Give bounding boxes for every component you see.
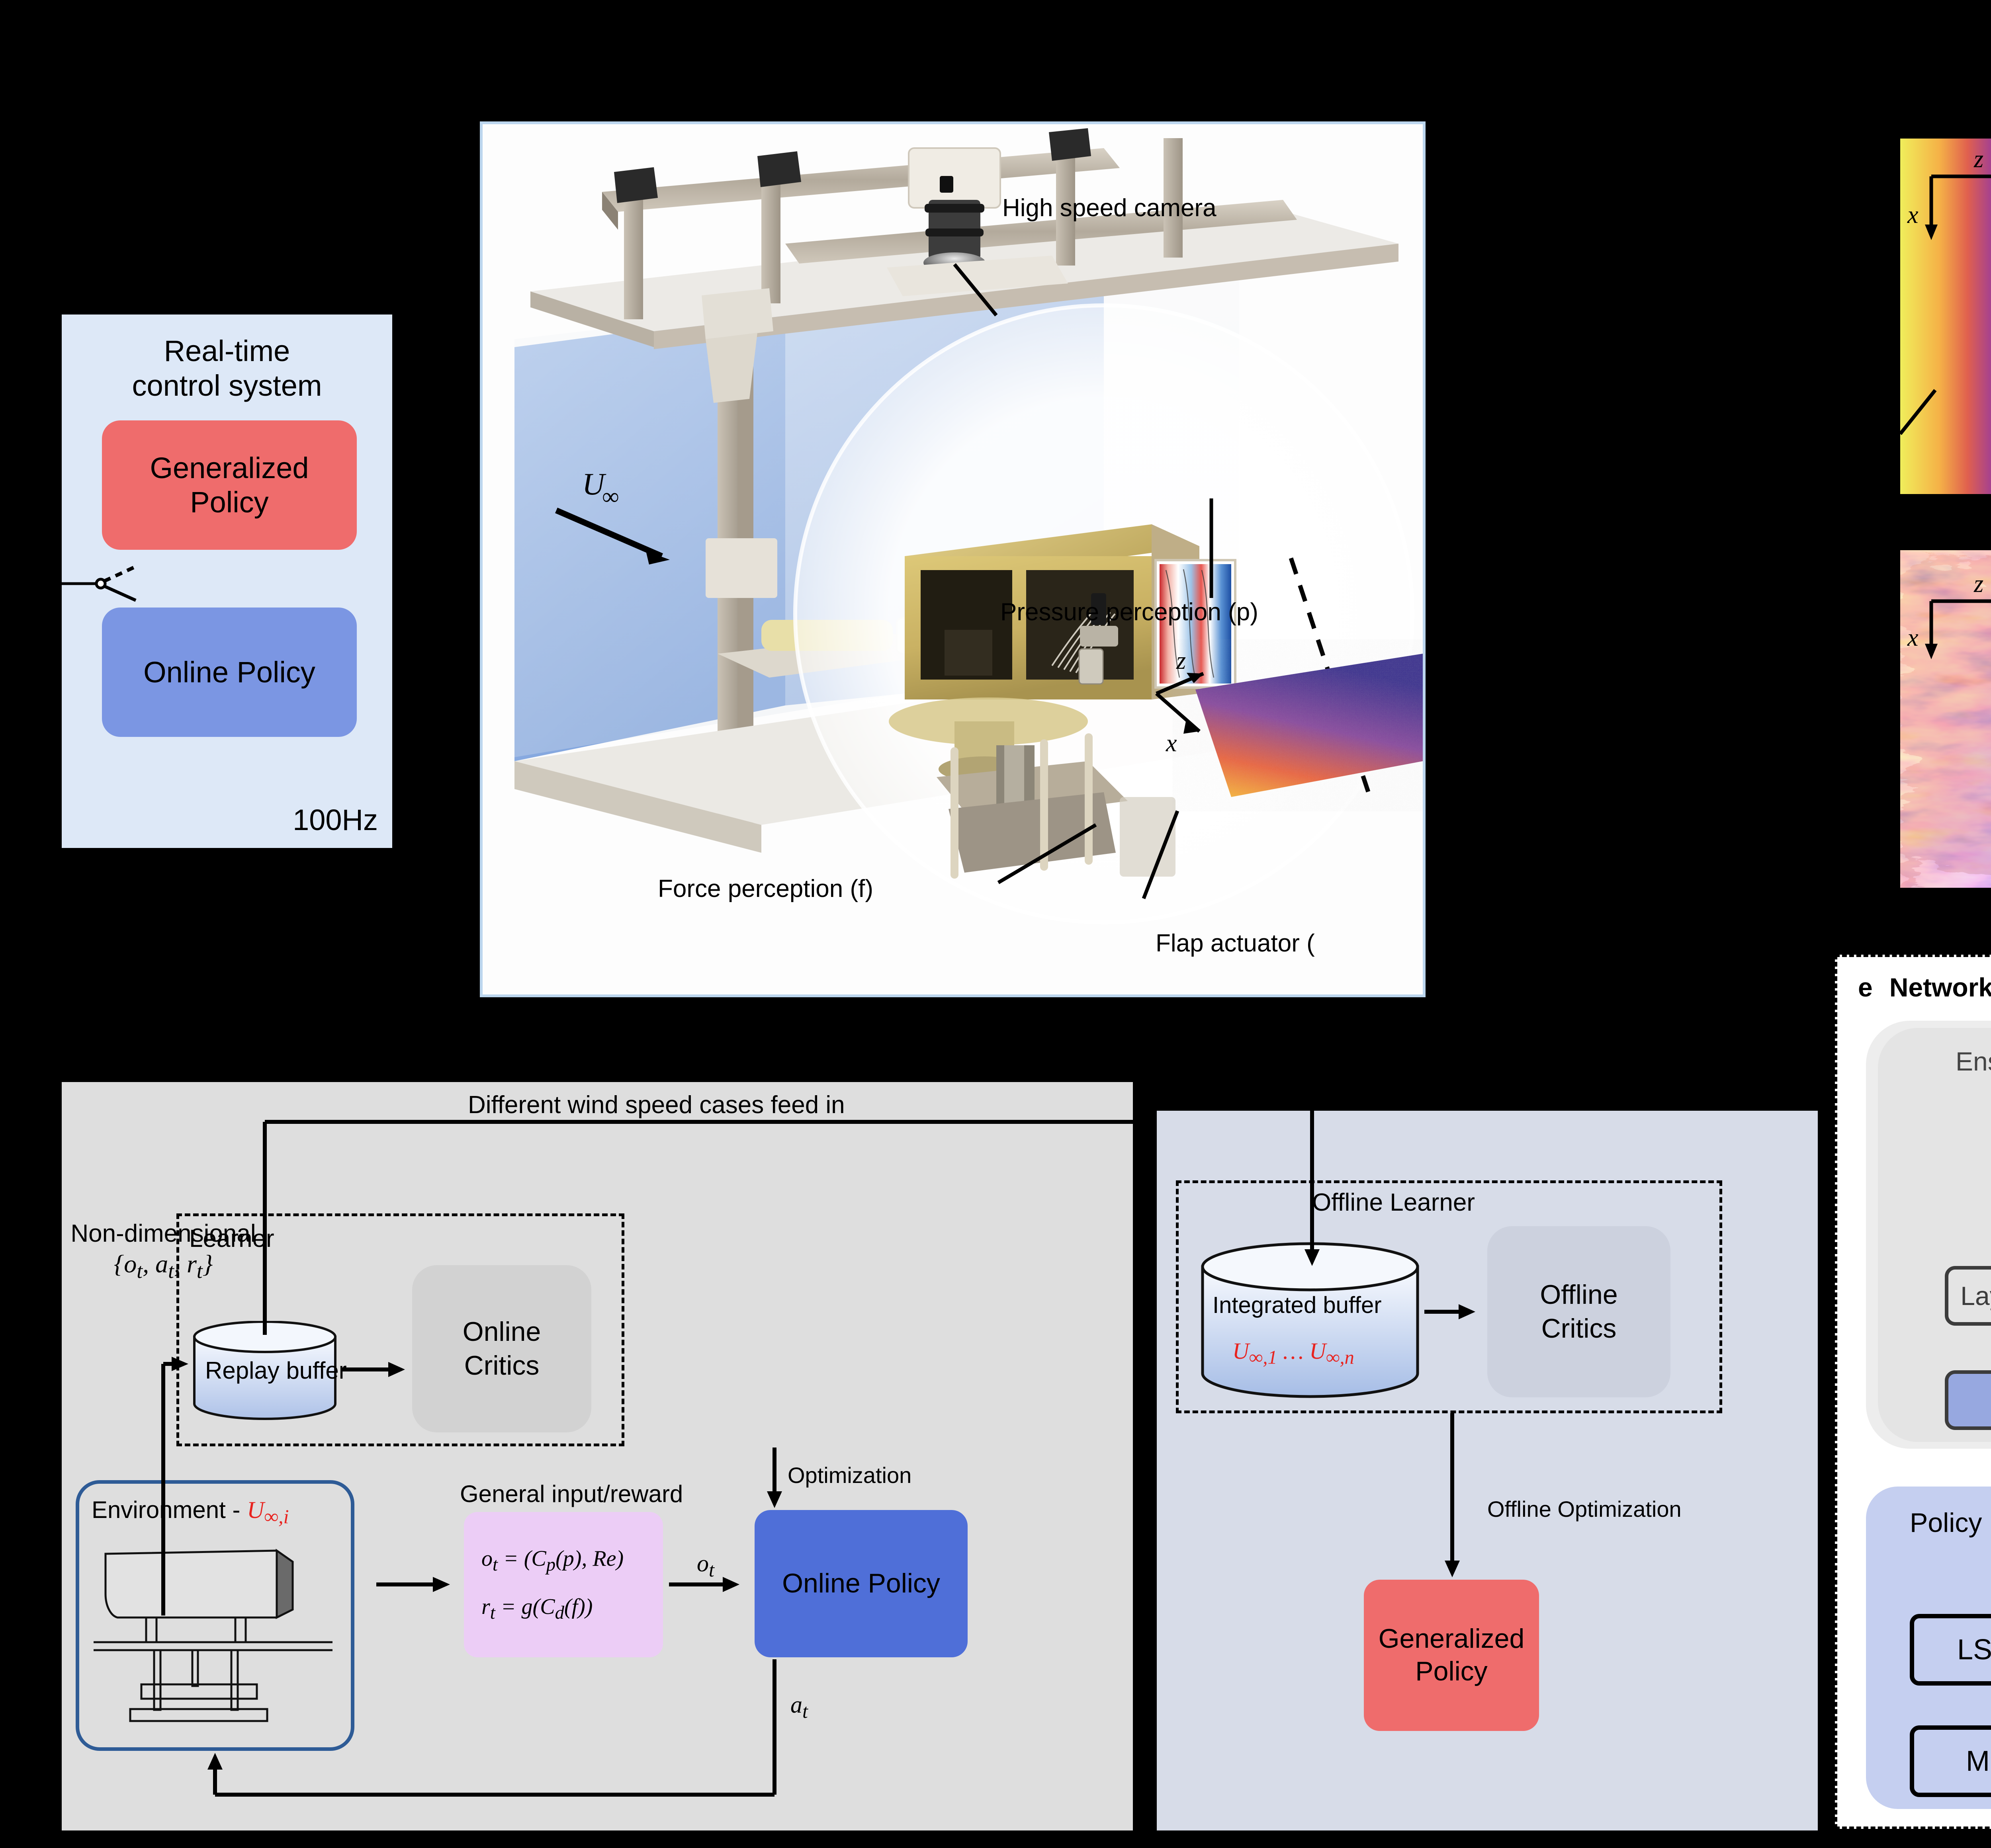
label-high-speed-camera: High speed camera: [1002, 194, 1217, 222]
wind-tunnel-rendering: z x U ∞: [483, 124, 1423, 994]
offline-learning-flow-panel: Offline Learner Integrated buffer U∞,1 ……: [1157, 1111, 1818, 1830]
generalized-policy-flow-box[interactable]: GeneralizedPolicy: [1364, 1580, 1539, 1731]
online-policy-flow-box[interactable]: Online Policy: [755, 1510, 968, 1657]
online-policy-label: Online Policy: [143, 655, 315, 690]
policy-lstm-block[interactable]: LSTM: [1910, 1614, 1991, 1686]
policy-subpanel-title: Policy: [1910, 1507, 1982, 1538]
integrated-buffer-cylinder: [1199, 1242, 1422, 1401]
policy-subpanel: Policy LSTM MLP MLP: [1866, 1487, 1991, 1809]
experimental-setup-photo: z x U ∞ High speed camera Pressure perce…: [480, 121, 1426, 997]
online-learning-flow-panel: Different wind speed cases feed in Learn…: [62, 1082, 1133, 1830]
observation-equation: ot = (Cp(p), Re): [481, 1546, 645, 1575]
network-architecture-panel: eNetwork architecture Ensemble Critics M…: [1835, 955, 1991, 1829]
panel-e-heading: eNetwork architecture: [1858, 972, 1991, 1002]
online-critics-box: OnlineCritics: [412, 1265, 591, 1432]
non-dimensional-tuple: {ot, at, rt}: [52, 1249, 275, 1283]
svg-text:z: z: [1973, 570, 1983, 598]
optimization-label: Optimization: [788, 1462, 911, 1488]
control-frequency-label: 100Hz: [293, 803, 378, 837]
turbulent-field-image: z x: [1900, 550, 1991, 888]
observation-arrow-label: ot: [697, 1550, 714, 1581]
generalized-policy-box[interactable]: GeneralizedPolicy: [102, 420, 357, 550]
panel-e-letter: e: [1858, 973, 1873, 1002]
panel-e-title: Network architecture: [1889, 973, 1991, 1002]
generalized-policy-flow-label: GeneralizedPolicy: [1379, 1623, 1525, 1688]
svg-text:x: x: [1907, 201, 1919, 229]
replay-buffer-label: Replay buffer: [205, 1357, 347, 1384]
ensemble-critics-inner: Ensemble Critics MLP LayerNorm LayerNorm…: [1878, 1028, 1991, 1442]
offline-learner-label: Offline Learner: [1312, 1188, 1475, 1217]
policy-switch-icon[interactable]: [60, 556, 160, 608]
reward-equation: rt = g(Cd(f)): [481, 1594, 645, 1623]
environment-label: Environment - U∞,i: [92, 1496, 289, 1528]
laminar-field-image: z x: [1900, 139, 1991, 494]
bluff-body-schematic: [94, 1542, 332, 1733]
ensemble-ssm-block[interactable]: SSM: [1945, 1370, 1991, 1430]
turbulent-flow-field: z x: [1900, 550, 1991, 888]
svg-text:∞: ∞: [602, 483, 619, 510]
online-critics-label: OnlineCritics: [412, 1315, 591, 1383]
online-policy-flow-label: Online Policy: [782, 1567, 940, 1600]
policy-input-mlp-block[interactable]: MLP: [1910, 1725, 1991, 1797]
offline-critics-label: OfflineCritics: [1487, 1278, 1670, 1346]
label-flap-actuator: Flap actuator (: [1156, 929, 1315, 957]
svg-text:z: z: [1176, 647, 1186, 674]
integrated-buffer-symbols: U∞,1 … U∞,n: [1232, 1338, 1354, 1369]
svg-text:z: z: [1973, 146, 1983, 173]
general-input-reward-label: General input/reward: [460, 1480, 683, 1508]
feed-in-label: Different wind speed cases feed in: [468, 1091, 845, 1119]
ensemble-critics-outer: Ensemble Critics MLP LayerNorm LayerNorm…: [1866, 1021, 1991, 1449]
ensemble-left-layernorm[interactable]: LayerNorm: [1945, 1266, 1991, 1326]
online-policy-box[interactable]: Online Policy: [102, 608, 357, 737]
svg-text:x: x: [1907, 624, 1919, 651]
equations-box: ot = (Cp(p), Re) rt = g(Cd(f)): [464, 1512, 663, 1657]
label-pressure-perception: Pressure perception (p): [1000, 598, 1258, 626]
generalized-policy-label: GeneralizedPolicy: [150, 451, 309, 520]
svg-text:x: x: [1166, 730, 1177, 757]
real-time-control-system-panel: Real-time control system GeneralizedPoli…: [62, 315, 392, 848]
rtcs-title: Real-time control system: [64, 334, 390, 403]
integrated-buffer-label: Integrated buffer: [1213, 1292, 1382, 1319]
laminar-flow-field: z x: [1900, 139, 1991, 494]
non-dimensional-label: Non-dimensional: [52, 1219, 275, 1248]
action-arrow-label: at: [790, 1691, 808, 1723]
offline-critics-box: OfflineCritics: [1487, 1226, 1670, 1397]
ensemble-critics-title: Ensemble Critics: [1956, 1046, 1991, 1076]
label-force-perception: Force perception (f): [658, 875, 873, 903]
offline-optimization-label: Offline Optimization: [1487, 1496, 1682, 1522]
